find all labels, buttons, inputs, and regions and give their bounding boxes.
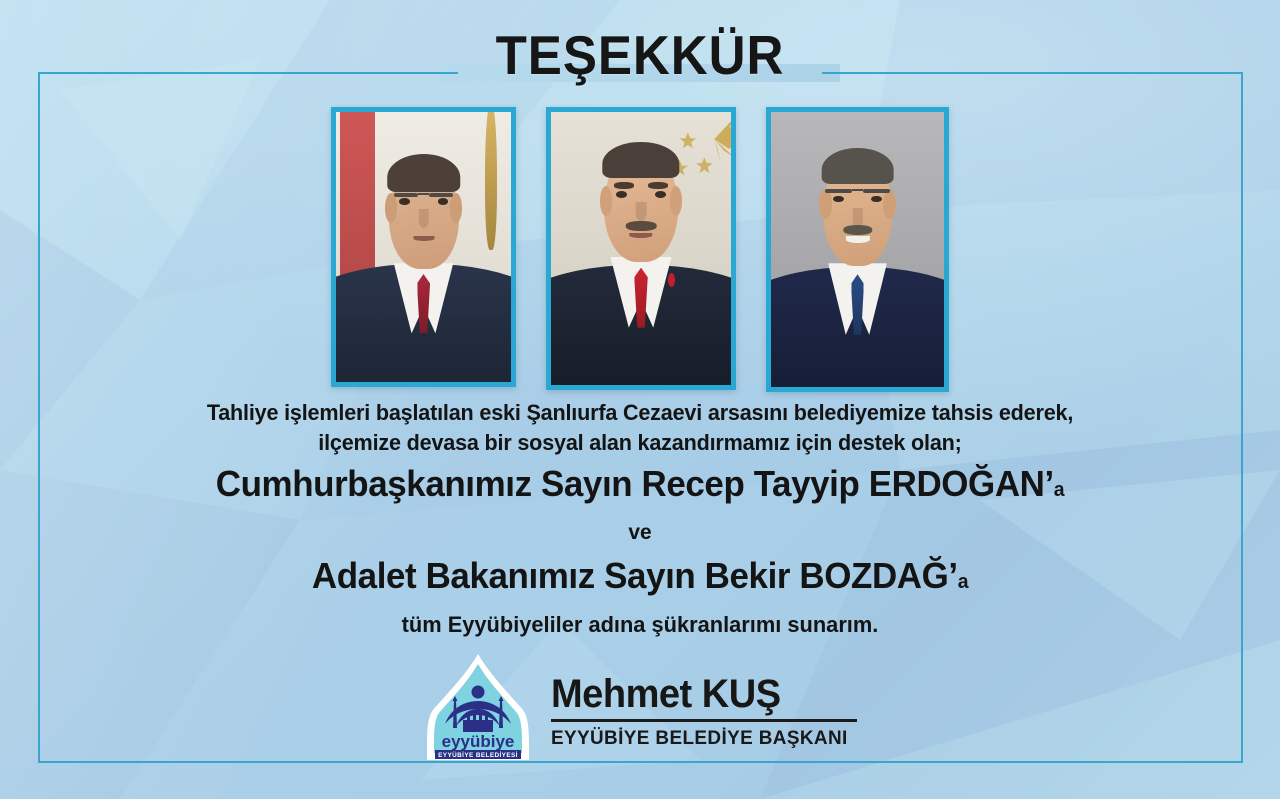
portrait-frame-kus <box>766 107 949 392</box>
portrait-frame-bozdag <box>331 107 516 387</box>
signature-role: EYYÜBİYE BELEDİYE BAŞKANI <box>551 726 848 750</box>
president-text: Cumhurbaşkanımız Sayın Recep Tayyip ERDO… <box>216 463 1054 504</box>
portrait-row <box>0 107 1280 392</box>
eye-right <box>655 191 666 198</box>
hair-shape <box>387 154 461 192</box>
nose-shape <box>418 209 429 228</box>
minister-suffix: a <box>958 571 968 593</box>
page-title: TEŞEKKÜR <box>45 28 1235 83</box>
message-connector: ve <box>0 516 1280 550</box>
eye-left <box>399 198 410 204</box>
signature-divider <box>551 719 857 722</box>
flag-pole-icon <box>485 112 497 250</box>
ear-left <box>600 186 613 216</box>
message-line-1: Tahliye işlemleri başlatılan eski Şanlıu… <box>26 398 1255 428</box>
ear-left <box>385 193 397 223</box>
ear-right <box>883 189 895 219</box>
poster-canvas: TEŞEKKÜR <box>0 0 1280 799</box>
message-line-president: Cumhurbaşkanımız Sayın Recep Tayyip ERDO… <box>19 458 1261 516</box>
portrait-photo-bozdag <box>336 112 511 382</box>
portrait-frame-erdogan <box>546 107 736 390</box>
president-suffix: a <box>1054 479 1064 501</box>
portrait-photo-erdogan <box>551 112 731 385</box>
portrait-photo-kus <box>771 112 944 387</box>
ear-right <box>450 193 462 223</box>
mustache-shape <box>843 225 872 235</box>
hair-shape <box>821 148 894 184</box>
message-line-minister: Adalet Bakanımız Sayın Bekir BOZDAĞ’a <box>19 550 1261 608</box>
mustache-shape <box>626 221 657 231</box>
mouth-shape <box>629 233 652 238</box>
brow-right <box>648 182 668 189</box>
logo-subtext: EYYÜBİYE BELEDİYESİ <box>438 750 518 759</box>
minister-text: Adalet Bakanımız Sayın Bekir BOZDAĞ’ <box>312 555 958 596</box>
signature-name: Mehmet KUŞ <box>551 671 842 717</box>
message-line-closing: tüm Eyyübiyeliler adına şükranlarımı sun… <box>19 608 1261 642</box>
message-block: Tahliye işlemleri başlatılan eski Şanlıu… <box>0 398 1280 642</box>
logo-wordmark: eyyübiye <box>442 732 515 751</box>
signature-text: Mehmet KUŞ EYYÜBİYE BELEDİYE BAŞKANI <box>551 667 857 750</box>
signature-block: eyyübiye EYYÜBİYE BELEDİYESİ Mehmet KUŞ … <box>0 652 1280 764</box>
eyyubiye-municipality-logo: eyyübiye EYYÜBİYE BELEDİYESİ <box>423 652 533 764</box>
eye-left <box>616 191 627 198</box>
nose-shape <box>636 202 647 221</box>
ear-left <box>819 189 831 219</box>
brow-left <box>614 182 634 189</box>
mouth-shape <box>413 236 434 241</box>
lapel-pin-icon <box>668 273 675 287</box>
message-line-2: ilçemize devasa bir sosyal alan kazandır… <box>26 428 1255 458</box>
eye-right <box>438 198 449 204</box>
